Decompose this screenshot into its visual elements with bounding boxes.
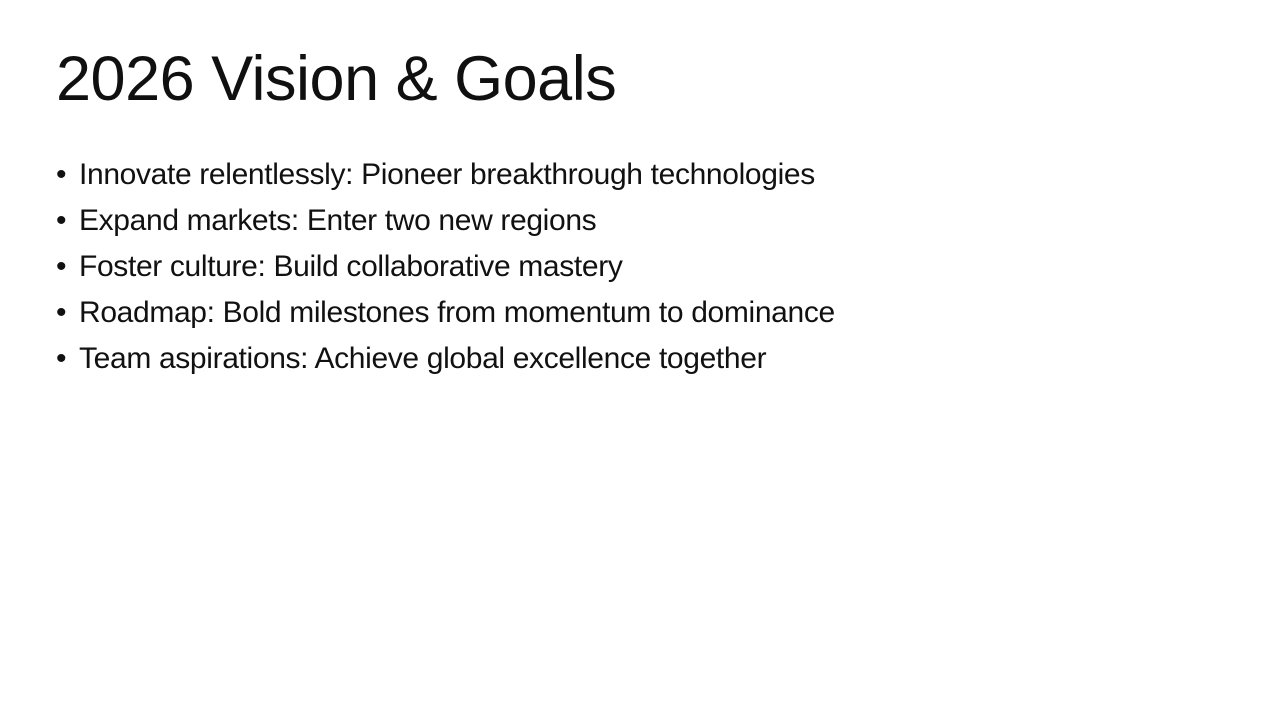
bullet-dot-icon: • (56, 152, 79, 198)
presentation-slide: 2026 Vision & Goals • Innovate relentles… (0, 0, 1280, 720)
bullet-item-3: • Foster culture: Build collaborative ma… (56, 244, 1206, 290)
bullet-text-5: Team aspirations: Achieve global excelle… (79, 336, 766, 382)
bullet-text-3: Foster culture: Build collaborative mast… (79, 244, 623, 290)
bullet-item-1: • Innovate relentlessly: Pioneer breakth… (56, 152, 1206, 198)
bullet-item-5: • Team aspirations: Achieve global excel… (56, 336, 1206, 382)
slide-bullet-list: • Innovate relentlessly: Pioneer breakth… (56, 152, 1206, 382)
bullet-dot-icon: • (56, 336, 79, 382)
bullet-item-2: • Expand markets: Enter two new regions (56, 198, 1206, 244)
bullet-text-2: Expand markets: Enter two new regions (79, 198, 596, 244)
bullet-text-1: Innovate relentlessly: Pioneer breakthro… (79, 152, 815, 198)
slide-title: 2026 Vision & Goals (56, 48, 1156, 111)
bullet-dot-icon: • (56, 198, 79, 244)
bullet-dot-icon: • (56, 244, 79, 290)
bullet-dot-icon: • (56, 290, 79, 336)
bullet-item-4: • Roadmap: Bold milestones from momentum… (56, 290, 1206, 336)
bullet-text-4: Roadmap: Bold milestones from momentum t… (79, 290, 835, 336)
